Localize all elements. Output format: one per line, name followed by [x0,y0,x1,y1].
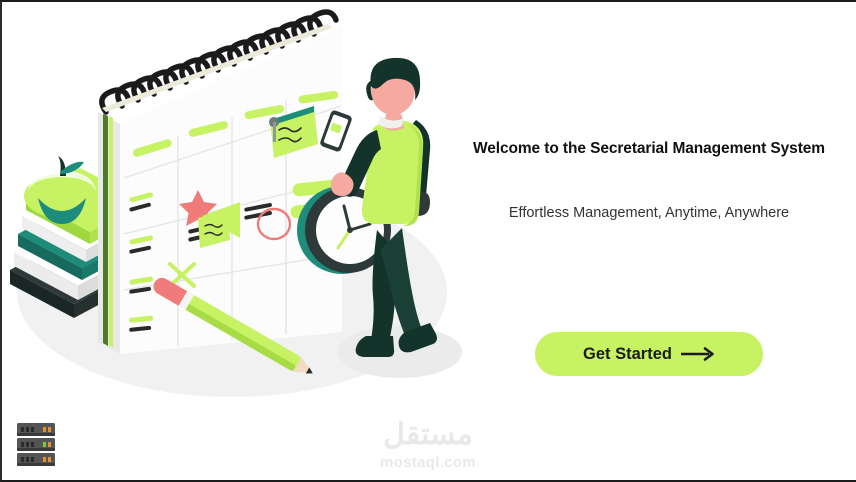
welcome-screen: Welcome to the Secretarial Management Sy… [0,0,856,482]
watermark-arabic-text: مستقل [366,420,490,450]
server-unit-2 [17,438,55,451]
mostaql-watermark: مستقل mostaql.com [366,420,490,470]
get-started-label: Get Started [583,345,672,364]
server-rack-icon[interactable] [16,422,56,468]
page-title: Welcome to the Secretarial Management Sy… [454,140,844,158]
server-unit-1 [17,423,55,436]
spiral-calendar [98,12,342,354]
calendar-planning-illustration [2,2,462,422]
get-started-button[interactable]: Get Started [535,332,763,376]
arrow-right-icon [681,347,715,361]
watermark-domain-text: mostaql.com [366,450,490,470]
page-subtitle: Effortless Management, Anytime, Anywhere [454,158,844,221]
server-unit-3 [17,453,55,466]
hero-text-block: Welcome to the Secretarial Management Sy… [454,140,844,221]
cta-container: Get Started [454,332,844,376]
